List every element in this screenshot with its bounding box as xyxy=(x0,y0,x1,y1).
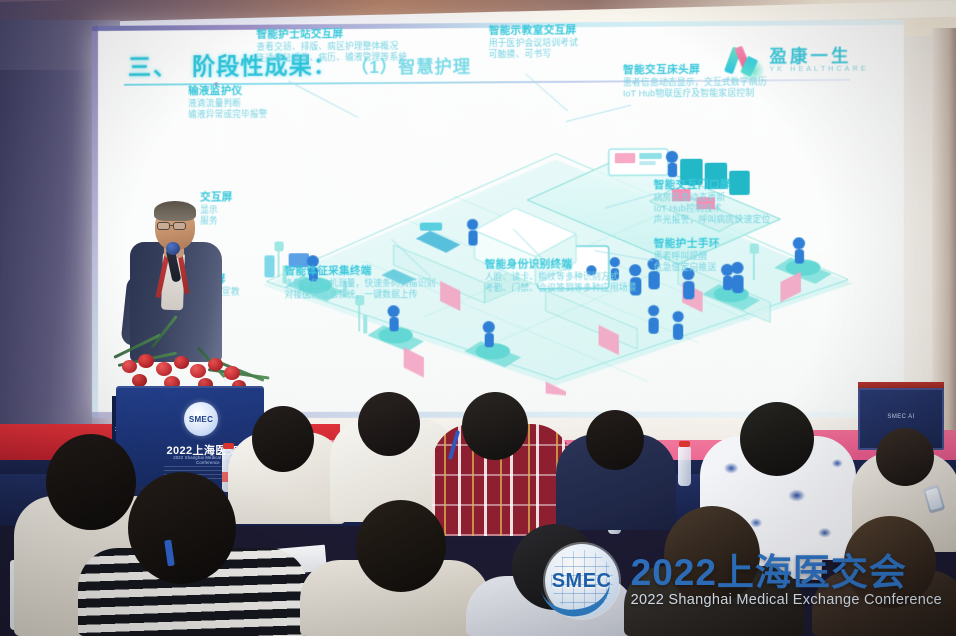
audience-head-striped xyxy=(128,472,236,584)
speaker-glasses-left-lens-icon xyxy=(157,222,170,230)
slide-left-edge xyxy=(92,26,98,418)
callout-vitals-terminal: 智能体征采集终端 多种体征一机测量，快速条码扫描识别 对接医院信息系统，一键数据… xyxy=(285,265,436,301)
audience-head-front-1 xyxy=(46,434,136,530)
water-bottle-2-cap xyxy=(679,441,690,447)
callout-bedside: 智能交互床头屏 患者信息动态显示，交互式数字病历 IoT Hub物联医疗及智能家… xyxy=(623,63,767,100)
smec-globe-icon: SMEC xyxy=(545,544,619,618)
audience-head-1 xyxy=(252,406,314,472)
podium-smec-emblem-icon: SMEC xyxy=(184,402,218,436)
callout-infusion-monitor: 输液监护仪 液滴流量判断 输液异常或完毕报警 xyxy=(188,85,268,121)
audience-head-3 xyxy=(586,410,644,470)
audience-head-2 xyxy=(358,392,420,456)
callout-classroom: 智能示教室交互屏 用于医护会议培训考试 可触摸、可书写 xyxy=(489,24,578,60)
leader-line-1 xyxy=(288,81,358,118)
event-watermark: SMEC 2022上海医交会 2022 Shanghai Medical Exc… xyxy=(545,544,942,618)
leader-line-3 xyxy=(566,105,631,122)
callout-identity-terminal: 智能身份识别终端 人脸、读卡、指纹等多种识别方式 考勤、门禁、会议签到等多种应用… xyxy=(485,258,637,294)
watermark-title-en: 2022 Shanghai Medical Exchange Conferenc… xyxy=(631,593,942,608)
water-bottle-4-cap xyxy=(223,443,234,449)
smec-emblem-text: SMEC xyxy=(552,570,612,593)
microphone-head-icon xyxy=(166,242,180,255)
audience-head-plaid xyxy=(462,392,528,460)
speaker-glasses-right-lens-icon xyxy=(173,222,186,230)
watermark-title-cn: 2022上海医交会 xyxy=(631,554,942,591)
callout-nurse-station: 智能护士站交互屏 查看交班、排版、病区护理整体概况 连通体征采集、病历、输液管理… xyxy=(256,28,407,65)
callout-door-screen: 智能交互门口屏 病房信息动态更新 IoT Hub控制技术 声光报警，呼叫病房快速… xyxy=(654,179,771,227)
water-bottle-2 xyxy=(678,446,691,486)
flightcase-label: SMEC AI xyxy=(868,414,934,420)
audience-head-front-2 xyxy=(356,500,446,592)
audience-head-4 xyxy=(876,428,934,486)
audience-head-floral xyxy=(740,402,814,476)
left-wall-strip xyxy=(0,70,92,470)
slide-title-number: 三、 xyxy=(128,47,178,81)
conference-photo-scene: 三、 阶段性成果： （1）智慧护理 盈康一生 YK HEALTHCARE xyxy=(0,0,956,636)
brand-name-en: YK HEALTHCARE xyxy=(769,65,868,73)
brand-name-cn: 盈康一生 xyxy=(769,47,868,65)
podium-emblem-text: SMEC xyxy=(189,415,213,424)
leader-line-2 xyxy=(525,73,568,111)
speaker-glasses-bridge xyxy=(170,225,174,226)
speaker-hair xyxy=(154,201,196,221)
callout-nurse-wristband: 智能护士手环 患者呼叫提醒 危急值定向推送 xyxy=(654,238,720,274)
